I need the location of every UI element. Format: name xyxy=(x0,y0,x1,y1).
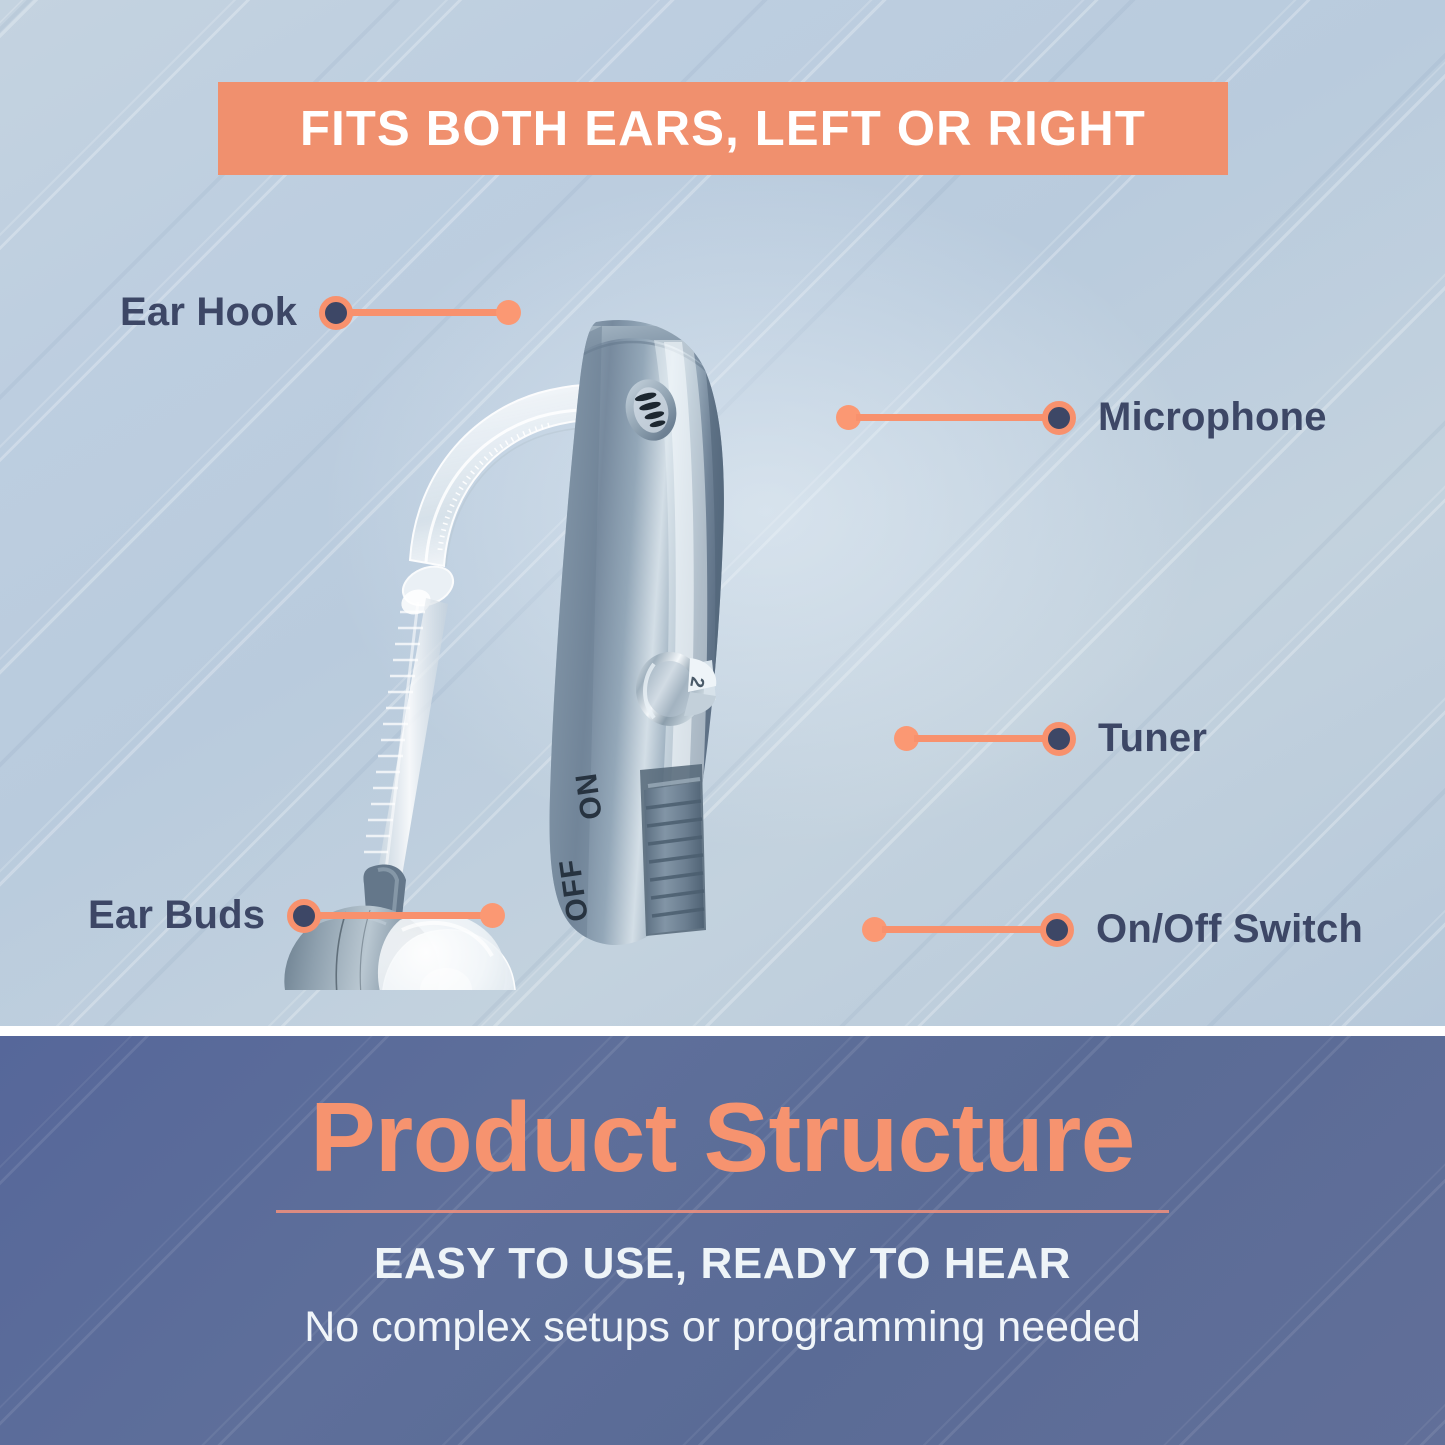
svg-text:ON: ON xyxy=(570,770,609,821)
product-diagram-panel: FITS BOTH EARS, LEFT OR RIGHT xyxy=(0,0,1445,1033)
callout-anchor-dot xyxy=(1042,401,1076,435)
callout-ear-hook: Ear Hook xyxy=(120,290,521,335)
panel-divider xyxy=(0,1026,1445,1036)
infographic-page: FITS BOTH EARS, LEFT OR RIGHT xyxy=(0,0,1445,1445)
hearing-aid-illustration: 2 ON OFF xyxy=(250,230,950,990)
callout-label-microphone: Microphone xyxy=(1098,395,1327,440)
callout-endpoint-dot xyxy=(480,903,505,928)
on-off-slider xyxy=(640,764,706,936)
section-title: Product Structure xyxy=(310,1088,1135,1186)
title-underline-rule xyxy=(276,1210,1169,1213)
callout-anchor-dot xyxy=(1042,722,1076,756)
banner-text: FITS BOTH EARS, LEFT OR RIGHT xyxy=(300,101,1146,157)
callout-anchor-dot xyxy=(319,296,353,330)
callout-label-on-off-switch: On/Off Switch xyxy=(1096,907,1363,952)
callout-line xyxy=(349,309,501,316)
callout-anchor-dot xyxy=(1040,913,1074,947)
callout-tuner: Tuner xyxy=(894,716,1207,761)
callout-line xyxy=(914,735,1046,742)
callout-line xyxy=(856,414,1046,421)
callout-endpoint-dot xyxy=(496,300,521,325)
section-subtitle: EASY TO USE, READY TO HEAR xyxy=(374,1239,1071,1289)
fits-both-ears-banner: FITS BOTH EARS, LEFT OR RIGHT xyxy=(218,82,1228,175)
callout-label-ear-hook: Ear Hook xyxy=(120,290,297,335)
section-tagline: No complex setups or programming needed xyxy=(304,1303,1141,1352)
callout-line xyxy=(317,912,485,919)
sound-tube-part xyxy=(364,598,448,876)
headline-panel: Product Structure EASY TO USE, READY TO … xyxy=(0,1036,1445,1445)
callout-label-ear-buds: Ear Buds xyxy=(88,893,265,938)
callout-microphone: Microphone xyxy=(836,395,1327,440)
callout-on-off-switch: On/Off Switch xyxy=(862,907,1363,952)
callout-anchor-dot xyxy=(287,899,321,933)
callout-label-tuner: Tuner xyxy=(1098,716,1207,761)
callout-line xyxy=(882,926,1044,933)
callout-ear-buds: Ear Buds xyxy=(88,893,505,938)
